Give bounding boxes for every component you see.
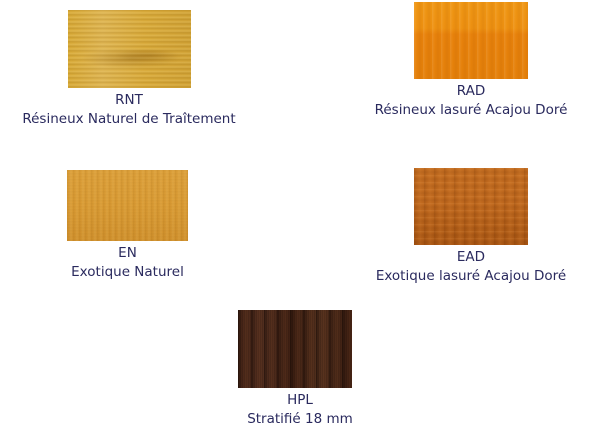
wood-sample-hpl[interactable]	[238, 310, 352, 388]
swatch-cell-ead[interactable]: EAD Exotique lasuré Acajou Doré	[342, 168, 600, 285]
swatch-description-rnt: Résineux Naturel de Traîtement	[0, 111, 258, 128]
wood-sample-en[interactable]	[67, 170, 188, 241]
swatch-code-rnt: RNT	[0, 92, 258, 109]
swatch-code-en: EN	[0, 245, 255, 262]
wood-sample-rnt[interactable]	[68, 10, 191, 88]
swatch-description-en: Exotique Naturel	[0, 264, 255, 281]
swatch-code-rad: RAD	[342, 83, 600, 100]
swatch-code-ead: EAD	[342, 249, 600, 266]
swatch-cell-rad[interactable]: RAD Résineux lasuré Acajou Doré	[342, 2, 600, 119]
swatch-cell-en[interactable]: EN Exotique Naturel	[0, 170, 255, 281]
swatch-description-ead: Exotique lasuré Acajou Doré	[342, 268, 600, 285]
swatch-description-rad: Résineux lasuré Acajou Doré	[342, 102, 600, 119]
wood-sample-rad[interactable]	[414, 2, 528, 79]
swatch-cell-rnt[interactable]: RNT Résineux Naturel de Traîtement	[0, 10, 258, 128]
wood-sample-ead[interactable]	[414, 168, 528, 245]
swatch-cell-hpl[interactable]: HPL Stratifié 18 mm	[171, 310, 429, 428]
swatch-description-hpl: Stratifié 18 mm	[171, 411, 429, 428]
swatch-code-hpl: HPL	[171, 392, 429, 409]
wood-finish-swatch-grid: RNT Résineux Naturel de Traîtement RAD R…	[0, 0, 600, 429]
